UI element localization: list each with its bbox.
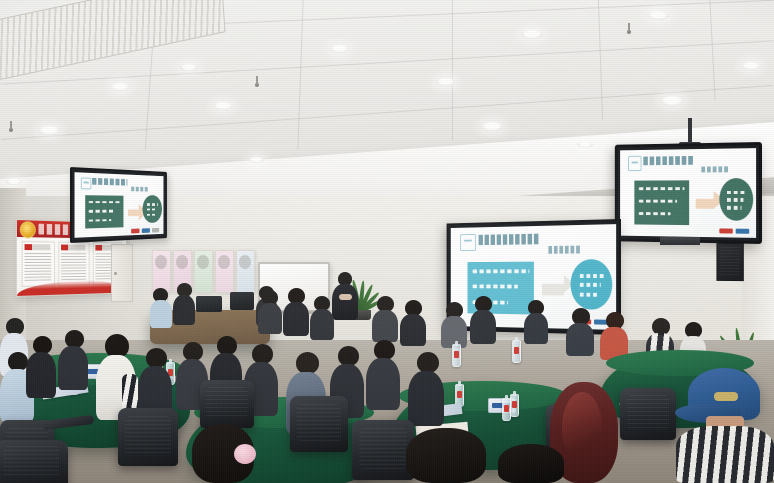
downlight-icon: [660, 96, 684, 106]
attendee: [372, 296, 398, 342]
wall-poster: [152, 250, 171, 293]
slide-footer-logos: [131, 228, 159, 233]
striped-shirt: [676, 426, 774, 483]
conference-room-photo: [0, 0, 774, 483]
water-bottle: [510, 394, 519, 417]
attendee: [258, 290, 282, 334]
downlight-icon: [6, 178, 22, 185]
attendee: [524, 300, 548, 344]
sprinkler-icon: [627, 30, 631, 34]
downlight-icon: [249, 157, 264, 163]
presenter: [332, 272, 358, 320]
wall-poster: [194, 250, 213, 293]
right-slide-title: [644, 156, 695, 165]
attendee: [150, 288, 172, 328]
left-display-slide: [75, 172, 164, 238]
attendee: [492, 444, 572, 483]
footer-logo-blue-icon: [142, 228, 150, 233]
right-display: [615, 142, 762, 244]
left-slide-circle: [142, 195, 161, 224]
laptop: [230, 292, 254, 310]
downlight-icon: [213, 102, 233, 110]
downlight-icon: [180, 64, 198, 71]
info-board-panel: [58, 242, 89, 286]
main-slide-circle: [571, 259, 613, 310]
attendee-pink-scrunchie: [186, 424, 264, 483]
main-slide-title: [479, 234, 541, 245]
footer-logo-blue-icon: [735, 228, 749, 233]
projector-mount: [688, 118, 692, 144]
display-stand: [660, 237, 700, 245]
downlight-icon: [577, 141, 593, 148]
downlight-icon: [38, 126, 60, 135]
right-display-slide: [620, 148, 756, 238]
right-slide-subtitle: [701, 166, 727, 172]
chair[interactable]: [118, 408, 178, 466]
attendee: [283, 288, 309, 336]
right-arrow-icon: [128, 209, 139, 216]
right-slide-circle: [719, 178, 753, 221]
attendee: [310, 296, 334, 340]
attendee: [398, 428, 496, 483]
downlight-icon: [647, 11, 669, 20]
left-slide-subtitle: [131, 187, 147, 192]
footer-logo-red-icon: [719, 228, 732, 233]
main-slide-subtitle: [549, 246, 581, 254]
slide-logo-icon: [628, 156, 642, 171]
water-bottle: [512, 340, 521, 363]
emblem-icon: [20, 221, 36, 238]
sprinkler-icon: [9, 128, 13, 132]
water-bottle: [502, 398, 511, 421]
slide-logo-icon: [460, 234, 476, 251]
attendee: [173, 283, 195, 325]
left-slide-title: [92, 178, 127, 185]
laptop: [196, 296, 222, 312]
right-slide-box: [634, 180, 689, 226]
attendee: [366, 340, 400, 410]
attendee: [600, 312, 628, 360]
wall-poster: [215, 250, 234, 293]
attendee: [400, 300, 426, 346]
downlight-icon: [481, 122, 503, 131]
attendee-blue-cap-striped: [676, 368, 774, 483]
chair[interactable]: [200, 380, 254, 428]
slide-logo-icon: [81, 177, 92, 189]
chair[interactable]: [620, 388, 676, 440]
attendee: [470, 296, 496, 344]
attendee: [566, 308, 594, 356]
water-bottle: [452, 344, 461, 367]
right-arrow-icon: [542, 284, 564, 295]
downlight-icon: [521, 30, 543, 39]
info-board-panel: [22, 241, 55, 287]
downlight-icon: [330, 45, 349, 53]
downlight-icon: [741, 62, 761, 70]
left-slide-box: [85, 195, 123, 229]
right-arrow-icon: [696, 199, 714, 209]
wall-speaker: [716, 243, 743, 281]
slide-footer-logos: [701, 227, 749, 234]
chair[interactable]: [290, 396, 348, 452]
footer-logo-red-icon: [131, 228, 139, 233]
side-door[interactable]: [111, 244, 133, 302]
door-knob-icon: [114, 272, 117, 275]
attendee: [408, 352, 444, 426]
chair[interactable]: [0, 440, 68, 483]
footer-logo-gray-icon: [152, 227, 160, 232]
attendee: [441, 302, 467, 348]
sprinkler-icon: [255, 83, 259, 87]
attendee: [26, 336, 56, 398]
attendee: [58, 330, 88, 390]
left-display: [70, 167, 167, 243]
wall-poster: [236, 250, 255, 293]
cap-logo-icon: [714, 392, 738, 401]
downlight-icon: [436, 78, 455, 86]
downlight-icon: [110, 83, 130, 91]
presenter-hands: [339, 294, 352, 300]
hair-scrunchie: [234, 444, 256, 464]
